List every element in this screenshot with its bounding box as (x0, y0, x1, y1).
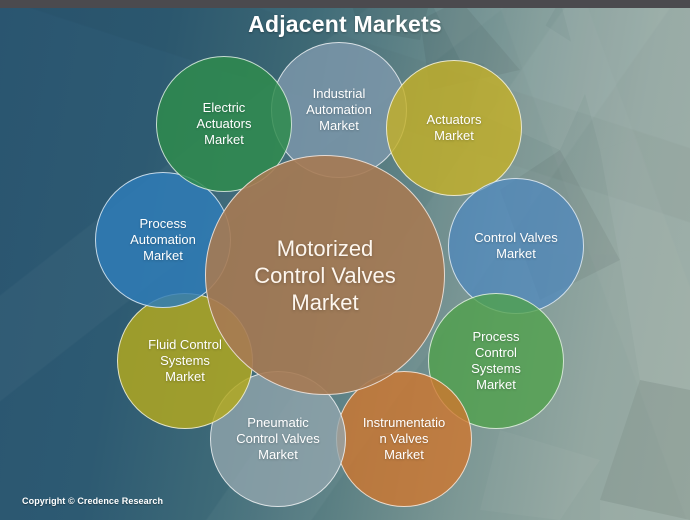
market-label-line: Fluid Control (148, 337, 222, 353)
market-label-line: Control Valves (236, 431, 320, 447)
top-bar (0, 0, 690, 8)
market-label-line: Electric (197, 100, 252, 116)
infographic-canvas: Adjacent Markets Industrial Automation M… (0, 0, 690, 520)
hub-label-line: Control Valves (254, 262, 395, 289)
market-label-line: Industrial (306, 86, 372, 102)
market-label-process-automation: Process Automation Market (120, 216, 206, 264)
market-label-line: Systems (471, 361, 521, 377)
market-label-line: Market (148, 369, 222, 385)
copyright-notice: Copyright © Credence Research (22, 496, 163, 506)
market-label-industrial-automation: Industrial Automation Market (296, 86, 382, 134)
market-label-pneumatic-control-valves: Pneumatic Control Valves Market (226, 415, 330, 463)
market-label-line: Market (363, 447, 445, 463)
market-label-line: n Valves (363, 431, 445, 447)
market-label-actuators: Actuators Market (417, 112, 492, 144)
market-label-line: Instrumentatio (363, 415, 445, 431)
market-label-line: Automation (130, 232, 196, 248)
market-circle-actuators[interactable]: Actuators Market (386, 60, 522, 196)
market-label-line: Market (197, 132, 252, 148)
market-label-line: Systems (148, 353, 222, 369)
market-label-line: Process (130, 216, 196, 232)
market-label-line: Control Valves (474, 230, 558, 246)
market-label-line: Market (236, 447, 320, 463)
hub-label-line: Motorized (254, 235, 395, 262)
market-label-instrumentation-valves: Instrumentatio n Valves Market (353, 415, 455, 463)
market-label-line: Control (471, 345, 521, 361)
market-label-line: Pneumatic (236, 415, 320, 431)
hub-label: Motorized Control Valves Market (254, 235, 395, 316)
market-label-process-control-systems: Process Control Systems Market (461, 329, 531, 393)
market-label-control-valves: Control Valves Market (464, 230, 568, 262)
market-label-line: Actuators (427, 112, 482, 128)
market-label-electric-actuators: Electric Actuators Market (187, 100, 262, 148)
page-title: Adjacent Markets (0, 11, 690, 38)
market-circle-control-valves[interactable]: Control Valves Market (448, 178, 584, 314)
market-label-line: Market (474, 246, 558, 262)
market-label-line: Market (306, 118, 372, 134)
market-label-line: Market (130, 248, 196, 264)
market-label-line: Market (471, 377, 521, 393)
market-label-line: Market (427, 128, 482, 144)
market-label-line: Process (471, 329, 521, 345)
hub-circle-motorized-control-valves[interactable]: Motorized Control Valves Market (205, 155, 445, 395)
market-label-line: Automation (306, 102, 372, 118)
hub-label-line: Market (254, 289, 395, 316)
market-label-fluid-control-systems: Fluid Control Systems Market (138, 337, 232, 385)
market-label-line: Actuators (197, 116, 252, 132)
market-circle-instrumentation-valves[interactable]: Instrumentatio n Valves Market (336, 371, 472, 507)
